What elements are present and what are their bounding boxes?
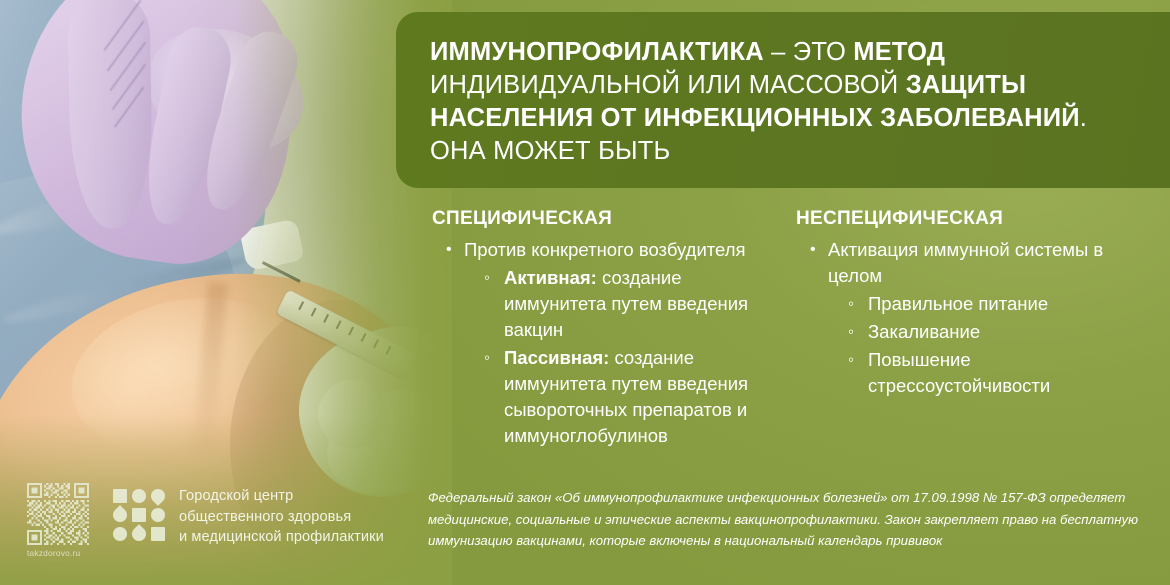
column-nonspecific-list: Активация иммунной системы в целом Прави… xyxy=(808,237,1146,399)
headline-part-1: ИММУНОПРОФИЛАКТИКА xyxy=(430,38,764,66)
column-nonspecific-title: НЕСПЕЦИФИЧЕСКАЯ xyxy=(796,208,1146,230)
sub-item-text: Закаливание xyxy=(868,321,980,342)
qr-code-icon[interactable] xyxy=(27,483,89,545)
organization-name-line-2: общественного здоровья xyxy=(179,507,384,528)
logo-shape-circle xyxy=(151,508,165,522)
sub-item-text: Правильное питание xyxy=(868,293,1048,314)
logo-shape-heart xyxy=(129,524,149,544)
headline-banner: ИММУНОПРОФИЛАКТИКА – ЭТО МЕТОД ИНДИВИДУА… xyxy=(396,12,1170,188)
qr-code-caption: takzdorovo.ru xyxy=(27,548,97,558)
list-item: Закаливание xyxy=(848,319,1146,345)
column-specific-list: Против конкретного возбудителя Активная:… xyxy=(444,237,780,449)
list-item: Против конкретного возбудителя Активная:… xyxy=(444,237,780,449)
headline-part-5: ЗАЩИТЫ xyxy=(906,71,1026,99)
sub-item-text: Повышение стрессоустойчивости xyxy=(868,349,1050,396)
headline-part-4: ИНДИВИДУАЛЬНОЙ ИЛИ МАССОВОЙ xyxy=(430,71,906,99)
column-nonspecific-sublist: Правильное питание Закаливание Повышение… xyxy=(848,291,1146,399)
column-nonspecific: НЕСПЕЦИФИЧЕСКАЯ Активация иммунной систе… xyxy=(796,208,1146,401)
logo-shape-square xyxy=(113,489,127,503)
list-item: Повышение стрессоустойчивости xyxy=(848,347,1146,399)
headline-text: ИММУНОПРОФИЛАКТИКА – ЭТО МЕТОД ИНДИВИДУА… xyxy=(430,36,1136,168)
headline-part-2: – ЭТО xyxy=(764,38,853,66)
organization-name-line-1: Городской центр xyxy=(179,486,384,507)
qr-code-block[interactable]: takzdorovo.ru xyxy=(27,483,97,558)
organization-name: Городской центр общественного здоровья и… xyxy=(179,486,384,548)
center-logo-icon xyxy=(113,489,165,541)
list-item: Активация иммунной системы в целом Прави… xyxy=(808,237,1146,399)
footer-legal-text: Федеральный закон «Об иммунопрофилактике… xyxy=(428,487,1152,552)
organization-name-line-3: и медицинской профилактики xyxy=(179,527,384,548)
column-specific-sublist: Активная: создание иммунитета путем введ… xyxy=(484,265,780,449)
column-specific-bullet: Против конкретного возбудителя xyxy=(464,237,780,263)
list-item: Правильное питание xyxy=(848,291,1146,317)
headline-part-6: НАСЕЛЕНИЯ ОТ ИНФЕКЦИОННЫХ ЗАБОЛЕВАНИЙ xyxy=(430,104,1080,132)
logo-shape-circle xyxy=(132,489,146,503)
logo-shape-heart xyxy=(110,505,130,525)
column-specific-title: СПЕЦИФИЧЕСКАЯ xyxy=(432,208,780,230)
logo-shape-square xyxy=(151,527,165,541)
logo-shape-square xyxy=(132,508,146,522)
headline-part-3: МЕТОД xyxy=(853,38,945,66)
list-item: Активная: создание иммунитета путем введ… xyxy=(484,265,780,343)
headline-part-8: ОНА МОЖЕТ БЫТЬ xyxy=(430,137,671,165)
sub-item-label: Активная: xyxy=(504,267,597,288)
column-specific: СПЕЦИФИЧЕСКАЯ Против конкретного возбуди… xyxy=(432,208,780,451)
logo-shape-circle xyxy=(113,527,127,541)
sub-item-label: Пассивная: xyxy=(504,347,609,368)
poster-canvas: ИММУНОПРОФИЛАКТИКА – ЭТО МЕТОД ИНДИВИДУА… xyxy=(0,0,1170,585)
headline-part-7: . xyxy=(1080,104,1087,132)
column-nonspecific-bullet: Активация иммунной системы в целом xyxy=(828,237,1146,289)
organization-logo-block: takzdorovo.ru Городской центр общественн… xyxy=(27,483,384,558)
list-item: Пассивная: создание иммунитета путем вве… xyxy=(484,345,780,449)
logo-shape-heart xyxy=(148,486,168,506)
